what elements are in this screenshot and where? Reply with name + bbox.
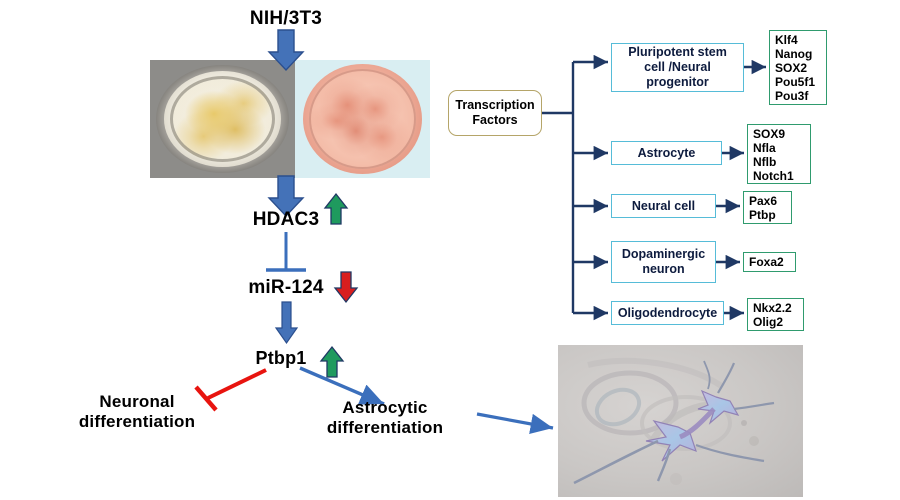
cell-box-astrocyte[interactable]: Astrocyte	[611, 141, 722, 165]
cell-line-1: Neural cell	[632, 199, 695, 214]
tf-hub-line2: Factors	[472, 113, 517, 127]
gene-box-astrocyte[interactable]: SOX9 Nfla Nflb Notch1	[747, 124, 811, 184]
gene-box-pluripotent[interactable]: Klf4 Nanog SOX2 Pou5f1 Pou3f	[769, 30, 827, 105]
cell-box-oligodendrocyte[interactable]: Oligodendrocyte	[611, 301, 724, 325]
gene-item: Pax6	[749, 195, 786, 209]
gene-item: Nanog	[775, 48, 821, 62]
gene-item: Ptbp	[749, 209, 786, 223]
cell-line-2: cell /Neural	[644, 60, 711, 74]
gene-item: Olig2	[753, 316, 798, 330]
gene-item: Nkx2.2	[753, 302, 798, 316]
cell-line-1: Oligodendrocyte	[618, 306, 717, 321]
cell-line-1: Astrocyte	[638, 146, 696, 161]
gene-item: Pou3f	[775, 90, 821, 104]
gene-item: Nflb	[753, 156, 805, 170]
cell-line-1: Pluripotent stem	[628, 45, 727, 59]
tf-hub-line1: Transcription	[455, 98, 534, 112]
arrow-astrocytic-to-micrograph	[477, 414, 553, 428]
gene-item: Notch1	[753, 170, 805, 184]
inhibition-hdac3-to-mir124	[266, 232, 306, 270]
pathway-source-label: NIH/3T3	[236, 8, 336, 30]
cell-line-1: Dopaminergic	[622, 247, 705, 261]
culture-plate-brightfield-image	[150, 60, 295, 178]
outcome-astrocytic-differentiation: Astrocytic differentiation	[300, 398, 470, 437]
gene-item: SOX2	[775, 62, 821, 76]
gene-item: Klf4	[775, 34, 821, 48]
pathway-step-mir124: miR-124	[236, 277, 336, 299]
transcription-factors-box[interactable]: Transcription Factors	[448, 90, 542, 136]
arrow-mir124-to-ptbp1	[276, 302, 297, 343]
pathway-step-hdac3: HDAC3	[236, 209, 336, 231]
cell-line-2: neuron	[642, 262, 684, 276]
cell-box-pluripotent-stem-neural-progenitor[interactable]: Pluripotent stem cell /Neural progenitor	[611, 43, 744, 92]
culture-dish-phenolred-image	[295, 60, 430, 178]
figure-canvas: NIH/3T3 HDAC3 miR-124 Ptbp1 Neuronal dif…	[0, 0, 900, 500]
outcome-neuronal-differentiation: Neuronal differentiation	[52, 392, 222, 431]
gene-item: Foxa2	[749, 256, 790, 270]
phase-contrast-astrocyte-image	[558, 345, 803, 497]
cell-box-neural-cell[interactable]: Neural cell	[611, 194, 716, 218]
tf-bus	[542, 62, 608, 313]
pathway-step-ptbp1: Ptbp1	[236, 348, 326, 369]
gene-item: Pou5f1	[775, 76, 821, 90]
cell-box-dopaminergic-neuron[interactable]: Dopaminergic neuron	[611, 241, 716, 283]
cell-to-gene-connectors	[716, 67, 766, 313]
gene-box-neural-cell[interactable]: Pax6 Ptbp	[743, 191, 792, 224]
gene-item: SOX9	[753, 128, 805, 142]
gene-item: Nfla	[753, 142, 805, 156]
gene-box-oligodendrocyte[interactable]: Nkx2.2 Olig2	[747, 298, 804, 331]
cell-line-3: progenitor	[646, 75, 709, 89]
downregulation-arrow-mir124	[335, 272, 357, 302]
gene-box-dopaminergic-neuron[interactable]: Foxa2	[743, 252, 796, 272]
